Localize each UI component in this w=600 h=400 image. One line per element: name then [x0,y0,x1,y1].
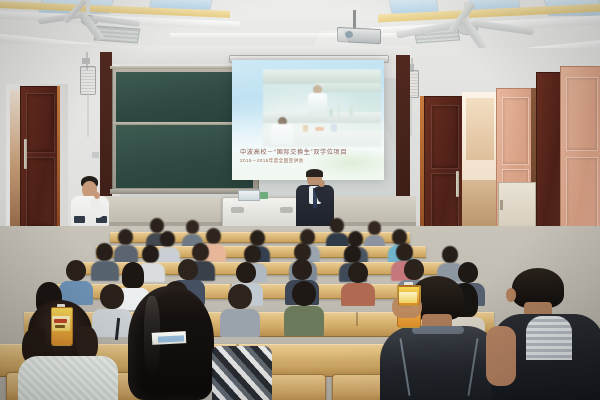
door-panel [566,77,598,151]
audience-member [118,229,138,263]
lectern-item [260,192,268,199]
foreground-attendee-right-2 [498,268,600,400]
audience-member [66,260,93,305]
lace-top [18,356,118,400]
fan-blade [92,15,140,27]
slide-title: 中波高校－“国际交换生”双学位项目 [240,147,347,156]
athletic-shirt [380,326,500,400]
board-wall-right-post [396,55,410,205]
lectern-control-recess [231,207,244,213]
door-panel [431,105,459,169]
projector-lens [345,31,353,38]
fan-blade [472,20,534,36]
wall-speaker-left [80,66,96,95]
presenter-hand [318,180,325,187]
far-right-door[interactable] [560,66,600,253]
audience-member [228,284,260,337]
speaker-bracket-left [82,58,90,64]
foreground-attendee-left [18,300,128,400]
presenter-hair [306,169,323,177]
left-door-edge-strip [57,86,60,232]
cabinet-handle[interactable] [500,200,503,210]
door-handle[interactable] [456,171,459,197]
lectern-monitor [238,190,260,201]
bottle-label-mark [54,319,67,323]
ear [506,288,516,302]
ceiling-fan-right [400,2,560,50]
slide-subtitle: 2015－2016年度全国宣讲会 [240,158,304,164]
lecture-hall-photo: 中波高校－“国际交换生”双学位项目 2015－2016年度全国宣讲会 [0,0,600,400]
bottle-label-mark [55,325,65,328]
left-door-open[interactable] [20,86,60,234]
audience-member [96,243,119,281]
lab-shelf [315,83,381,92]
striped-shirt-underneath [526,316,572,360]
bottle-label [399,292,417,303]
arm [486,326,516,386]
fan-blade [38,11,84,24]
door-panel [26,93,55,153]
right-door-edge-strip [420,96,424,246]
speaker-wire [87,93,89,137]
hallway-wall-tile [466,98,494,160]
door-handle[interactable] [24,139,27,169]
sweater-stripe [74,216,85,223]
door-panel [502,97,529,165]
speaker-wire [410,96,412,136]
patterned-bag [212,346,272,400]
projection-screen: 中波高校－“国际交换生”双学位项目 2015－2016年度全国宣讲会 [232,60,384,180]
juice-bottle-left[interactable] [50,304,72,344]
curly-hair-lock [76,326,98,360]
projector-mount-rod [353,10,356,29]
ceiling-fan-left [40,0,170,42]
attendee-hand [94,192,100,199]
audience-member [292,281,324,336]
door-panel [26,157,55,227]
audience-member [348,262,375,306]
wall-plate [92,152,99,158]
